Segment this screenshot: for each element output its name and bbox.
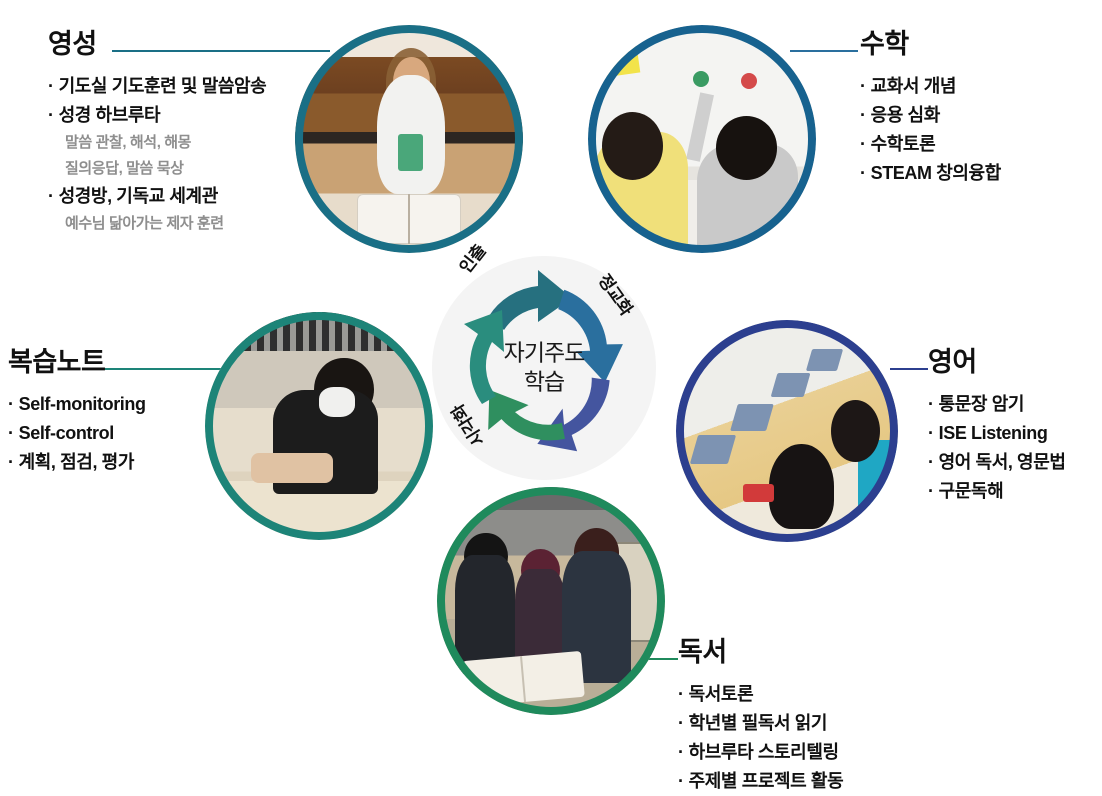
infographic-canvas: 자기주도 학습 인출 정교화 시각화 영성 ·기도실 기도훈련 및 말씀암송 ·… [0, 0, 1102, 792]
list-item-sub: 질의응답, 말씀 묵상 [48, 156, 266, 182]
section-review-note: 복습노트 ·Self-monitoring ·Self-control ·계획,… [8, 348, 146, 477]
bullet-icon: · [678, 684, 684, 704]
bullet-icon: · [48, 186, 54, 206]
section-list-review-note: ·Self-monitoring ·Self-control ·계획, 점검, … [8, 390, 146, 477]
girl-praying-with-bible-photo [295, 25, 523, 253]
bullet-icon: · [48, 76, 54, 96]
students-at-whiteboard-photo [588, 25, 816, 253]
bullet-icon: · [8, 423, 14, 443]
list-item-label: 독서토론 [689, 684, 754, 704]
bullet-icon: · [860, 163, 866, 183]
section-heading-spirituality: 영성 [48, 30, 266, 60]
list-item: ·Self-monitoring [8, 390, 146, 419]
list-item-label: ISE Listening [939, 423, 1048, 443]
bullet-icon: · [860, 105, 866, 125]
bullet-icon: · [928, 394, 934, 414]
list-item: ·ISE Listening [928, 419, 1066, 448]
connector-math [790, 50, 858, 52]
list-item: ·독서토론 [678, 680, 843, 709]
list-item: ·Self-control [8, 419, 146, 448]
list-item: ·응용 심화 [860, 101, 1001, 130]
photo-reading [437, 487, 665, 715]
list-item: ·기도실 기도훈련 및 말씀암송 [48, 72, 266, 101]
bullet-icon: · [860, 134, 866, 154]
list-item: ·구문독해 [928, 477, 1066, 506]
section-heading-english: 영어 [928, 348, 1066, 378]
section-list-english: ·통문장 암기 ·ISE Listening ·영어 독서, 영문법 ·구문독해 [928, 390, 1066, 507]
list-item-label: 성경 하브루타 [59, 105, 161, 125]
list-item-sub: 말씀 관찰, 해석, 해몽 [48, 130, 266, 156]
list-item-label: 응용 심화 [871, 105, 940, 125]
list-item: ·교화서 개념 [860, 72, 1001, 101]
bullet-icon: · [860, 76, 866, 96]
list-item-label: Self-control [19, 423, 114, 443]
section-list-spirituality: ·기도실 기도훈련 및 말씀암송 ·성경 하브루타 말씀 관찰, 해석, 해몽 … [48, 72, 266, 237]
list-item-label: 하브루타 스토리텔링 [689, 742, 839, 762]
section-heading-review-note: 복습노트 [8, 348, 146, 378]
list-item-label: 성경방, 기독교 세계관 [59, 186, 218, 206]
list-item: ·영어 독서, 영문법 [928, 448, 1066, 477]
photo-spirituality [295, 25, 523, 253]
section-heading-reading: 독서 [678, 638, 843, 668]
list-item: ·학년별 필독서 읽기 [678, 709, 843, 738]
students-reading-book-photo [437, 487, 665, 715]
section-english: 영어 ·통문장 암기 ·ISE Listening ·영어 독서, 영문법 ·구… [928, 348, 1066, 506]
list-item-label: 통문장 암기 [939, 394, 1024, 414]
list-item-label: STEAM 창의융합 [871, 163, 1001, 183]
section-reading: 독서 ·독서토론 ·학년별 필독서 읽기 ·하브루타 스토리텔링 ·주제별 프로… [678, 638, 843, 796]
section-spirituality: 영성 ·기도실 기도훈련 및 말씀암송 ·성경 하브루타 말씀 관찰, 해석, … [48, 30, 266, 237]
bullet-icon: · [48, 105, 54, 125]
section-math: 수학 ·교화서 개념 ·응용 심화 ·수학토론 ·STEAM 창의융합 [860, 30, 1001, 188]
photo-english [676, 320, 898, 542]
bullet-icon: · [678, 713, 684, 733]
list-item-label: 기도실 기도훈련 및 말씀암송 [59, 76, 267, 96]
list-item-sub: 예수님 닮아가는 제자 훈련 [48, 211, 266, 237]
list-item-label: 학년별 필독서 읽기 [689, 713, 827, 733]
students-at-computer-lab-photo [676, 320, 898, 542]
bullet-icon: · [678, 742, 684, 762]
list-item: ·계획, 점검, 평가 [8, 448, 146, 477]
cycle-center-title-line2: 학습 [432, 368, 656, 397]
bullet-icon: · [928, 423, 934, 443]
list-item-label: 영어 독서, 영문법 [939, 452, 1066, 472]
list-item: ·STEAM 창의융합 [860, 159, 1001, 188]
connector-english [890, 368, 928, 370]
list-item-label: 주제별 프로젝트 활동 [689, 771, 844, 791]
bullet-icon: · [678, 771, 684, 791]
section-heading-math: 수학 [860, 30, 1001, 60]
self-directed-learning-cycle: 자기주도 학습 인출 정교화 시각화 [432, 256, 656, 480]
list-item-label: 계획, 점검, 평가 [19, 452, 134, 472]
list-item: ·성경방, 기독교 세계관 [48, 182, 266, 211]
bullet-icon: · [928, 452, 934, 472]
photo-math [588, 25, 816, 253]
list-item: ·통문장 암기 [928, 390, 1066, 419]
cycle-center-title: 자기주도 학습 [432, 339, 656, 398]
photo-review-note [205, 312, 433, 540]
bullet-icon: · [8, 394, 14, 414]
list-item-label: 구문독해 [939, 481, 1004, 501]
list-item-label: 교화서 개념 [871, 76, 956, 96]
list-item-label: 수학토론 [871, 134, 936, 154]
section-list-reading: ·독서토론 ·학년별 필독서 읽기 ·하브루타 스토리텔링 ·주제별 프로젝트 … [678, 680, 843, 796]
list-item: ·성경 하브루타 [48, 101, 266, 130]
list-item: ·수학토론 [860, 130, 1001, 159]
student-studying-at-desk-photo [205, 312, 433, 540]
section-list-math: ·교화서 개념 ·응용 심화 ·수학토론 ·STEAM 창의융합 [860, 72, 1001, 189]
bullet-icon: · [8, 452, 14, 472]
bullet-icon: · [928, 481, 934, 501]
cycle-center-title-line1: 자기주도 [432, 339, 656, 368]
connector-reading [648, 658, 678, 660]
list-item-label: Self-monitoring [19, 394, 146, 414]
list-item: ·하브루타 스토리텔링 [678, 738, 843, 767]
